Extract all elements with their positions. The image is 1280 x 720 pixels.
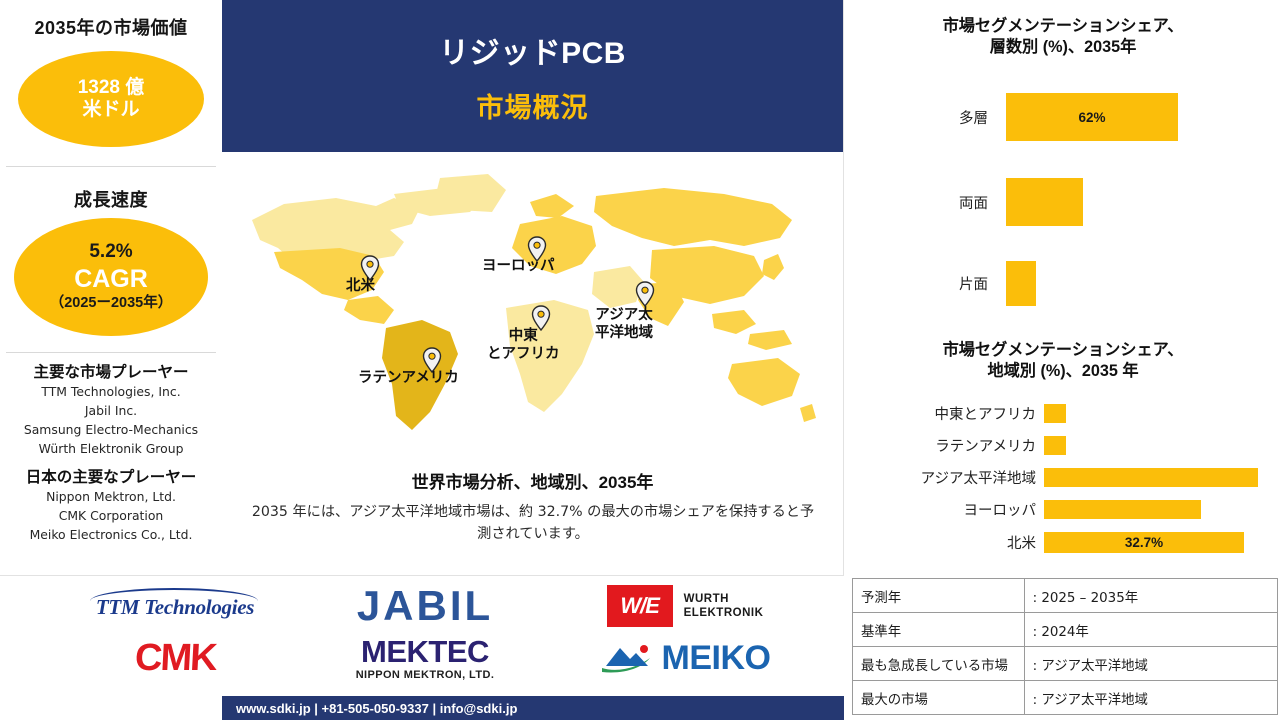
layer-bar: 62% <box>1006 93 1178 141</box>
title-banner: リジッドPCB 市場概況 <box>222 0 843 152</box>
summary-table: 予測年 : 2025 – 2035年 基準年 : 2024年 最も急成長している… <box>852 578 1278 715</box>
infographic-page: 2035年の市場価値 1328 億 米ドル 成長速度 5.2% CAGR （20… <box>0 0 1280 720</box>
key-players-title: 主要な市場プレーヤー <box>0 360 222 382</box>
table-key: 基準年 <box>853 613 1025 647</box>
wurth-logo-line1: WURTH <box>684 592 764 606</box>
key-player-item: Würth Elektronik Group <box>0 440 222 459</box>
region-bar-label: 中東とアフリカ <box>853 403 1036 424</box>
layer-chart-title-line2: 層数別 (%)、2035年 <box>990 38 1137 56</box>
layer-bar <box>1006 178 1083 226</box>
growth-rate-value: 5.2% <box>89 241 132 263</box>
wurth-mark-icon: W/E <box>607 585 673 627</box>
logo-wurth-elektronik: W/E WURTH ELEKTRONIK <box>560 582 810 630</box>
japan-players-section: 日本の主要なプレーヤー Nippon Mektron, Ltd. CMK Cor… <box>0 465 222 545</box>
logo-strip: TTM Technologies CMK JABIL MEKTEC NIPPON… <box>0 575 844 697</box>
layer-chart-title: 市場セグメンテーションシェア、 層数別 (%)、2035年 <box>853 16 1273 59</box>
footer-bar: www.sdki.jp | +81-505-050-9337 | info@sd… <box>222 696 844 720</box>
market-value-line2: 米ドル <box>82 99 139 121</box>
growth-rate-ellipse: 5.2% CAGR （2025ー2035年） <box>14 218 208 336</box>
wurth-logo-line2: ELEKTRONIK <box>684 606 764 620</box>
logo-meiko: MEIKO <box>560 634 810 682</box>
jabil-logo-text: JABIL <box>357 582 493 630</box>
market-value-line1: 1328 億 <box>78 77 145 99</box>
key-players-section: 主要な市場プレーヤー TTM Technologies, Inc. Jabil … <box>0 360 222 458</box>
japan-players-title: 日本の主要なプレーヤー <box>0 465 222 487</box>
map-label-europe: ヨーロッパ <box>482 258 555 275</box>
region-chart-title-line1: 市場セグメンテーションシェア、 <box>943 341 1184 359</box>
layer-chart: 多層 62% 両面 片面 <box>853 88 1273 307</box>
world-map: 北米 ヨーロッパ アジア太平洋地域 中東とアフリカ ラテンアメリカ <box>222 160 843 460</box>
layer-bar-label: 両面 <box>853 192 988 213</box>
table-row: 最も急成長している市場 : アジア太平洋地域 <box>853 647 1278 681</box>
divider-1 <box>6 166 216 167</box>
layer-bar-row: 片面 <box>853 259 1273 307</box>
region-bar: 32.7% <box>1044 532 1244 553</box>
region-bar <box>1044 500 1201 519</box>
key-player-item: Jabil Inc. <box>0 402 222 421</box>
region-chart: 中東とアフリカ ラテンアメリカ アジア太平洋地域 ヨーロッパ 北米 32.7% <box>853 403 1278 554</box>
growth-rate-section: 成長速度 5.2% CAGR （2025ー2035年） <box>0 186 222 336</box>
left-sidebar: 2035年の市場価値 1328 億 米ドル 成長速度 5.2% CAGR （20… <box>0 0 222 575</box>
growth-rate-title: 成長速度 <box>0 186 222 212</box>
growth-rate-cagr: CAGR <box>74 265 148 295</box>
key-player-item: Samsung Electro-Mechanics <box>0 421 222 440</box>
layer-bar-row: 両面 <box>853 173 1273 231</box>
table-key: 最大の市場 <box>853 681 1025 715</box>
table-row: 予測年 : 2025 – 2035年 <box>853 579 1278 613</box>
map-label-asia-pacific: アジア太平洋地域 <box>595 307 653 343</box>
table-value: : 2025 – 2035年 <box>1024 579 1277 613</box>
table-row: 最大の市場 : アジア太平洋地域 <box>853 681 1278 715</box>
banner-title-primary: リジッドPCB <box>439 28 626 72</box>
layer-bar-value: 62% <box>1078 110 1105 125</box>
market-value-title: 2035年の市場価値 <box>0 14 222 40</box>
layer-bar-label: 多層 <box>853 107 988 128</box>
region-bar-label: ラテンアメリカ <box>853 435 1036 456</box>
center-panel: リジッドPCB 市場概況 <box>222 0 844 575</box>
market-value-ellipse: 1328 億 米ドル <box>18 51 204 147</box>
key-player-item: TTM Technologies, Inc. <box>0 383 222 402</box>
table-value: : アジア太平洋地域 <box>1024 647 1277 681</box>
map-description: 2035 年には、アジア太平洋地域市場は、約 32.7% の最大の市場シェアを保… <box>248 501 818 546</box>
layer-bar <box>1006 261 1036 306</box>
region-bar-label: ヨーロッパ <box>853 499 1036 520</box>
layer-bar-row: 多層 62% <box>853 88 1273 146</box>
region-bar-row: ラテンアメリカ <box>853 435 1278 456</box>
region-bar <box>1044 468 1258 487</box>
region-bar <box>1044 404 1066 423</box>
region-bar-row: 中東とアフリカ <box>853 403 1278 424</box>
japan-player-item: Nippon Mektron, Ltd. <box>0 488 222 507</box>
mektec-logo-text: MEKTEC <box>356 636 495 667</box>
logo-mektec: MEKTEC NIPPON MEKTRON, LTD. <box>310 632 540 684</box>
growth-rate-period: （2025ー2035年） <box>50 295 173 312</box>
table-value: : アジア太平洋地域 <box>1024 681 1277 715</box>
table-row: 基準年 : 2024年 <box>853 613 1278 647</box>
table-key: 最も急成長している市場 <box>853 647 1025 681</box>
cmk-logo-text: CMK <box>134 637 217 680</box>
meiko-mountain-icon <box>600 642 658 674</box>
region-bar-label: アジア太平洋地域 <box>853 467 1036 488</box>
layer-chart-title-line1: 市場セグメンテーションシェア、 <box>943 17 1184 35</box>
region-chart-title-line2: 地域別 (%)、2035 年 <box>987 362 1138 380</box>
meiko-logo-text: MEIKO <box>662 639 771 678</box>
footer-contact-text: www.sdki.jp | +81-505-050-9337 | info@sd… <box>236 701 517 716</box>
region-bar-value: 32.7% <box>1125 535 1163 550</box>
japan-player-item: Meiko Electronics Co., Ltd. <box>0 526 222 545</box>
region-bar <box>1044 436 1066 455</box>
mektec-logo-sub: NIPPON MEKTRON, LTD. <box>356 670 495 681</box>
layer-bar-label: 片面 <box>853 273 988 294</box>
region-bar-row: アジア太平洋地域 <box>853 467 1278 488</box>
logo-cmk: CMK <box>60 634 290 682</box>
map-label-latin-america: ラテンアメリカ <box>358 370 459 387</box>
table-key: 予測年 <box>853 579 1025 613</box>
banner-title-secondary: 市場概況 <box>477 86 589 125</box>
table-value: : 2024年 <box>1024 613 1277 647</box>
ttm-logo-text: TTM Technologies <box>96 595 254 620</box>
market-value-section: 2035年の市場価値 1328 億 米ドル <box>0 14 222 147</box>
right-panel: 市場セグメンテーションシェア、 層数別 (%)、2035年 多層 62% 両面 … <box>845 0 1280 575</box>
map-pin-asia-pacific <box>635 281 655 307</box>
map-heading: 世界市場分析、地域別、2035年 <box>222 468 843 493</box>
wurth-we-text: W/E <box>620 593 659 619</box>
region-bar-row: ヨーロッパ <box>853 499 1278 520</box>
logo-jabil: JABIL <box>310 582 540 630</box>
region-chart-title: 市場セグメンテーションシェア、 地域別 (%)、2035 年 <box>853 340 1273 383</box>
region-bar-row: 北米 32.7% <box>853 531 1278 554</box>
map-label-north-america: 北米 <box>346 278 375 295</box>
region-bar-label: 北米 <box>853 532 1036 553</box>
map-label-middle-east-africa: 中東とアフリカ <box>487 328 560 364</box>
logo-ttm-technologies: TTM Technologies <box>60 584 290 630</box>
divider-2 <box>6 352 216 353</box>
japan-player-item: CMK Corporation <box>0 507 222 526</box>
